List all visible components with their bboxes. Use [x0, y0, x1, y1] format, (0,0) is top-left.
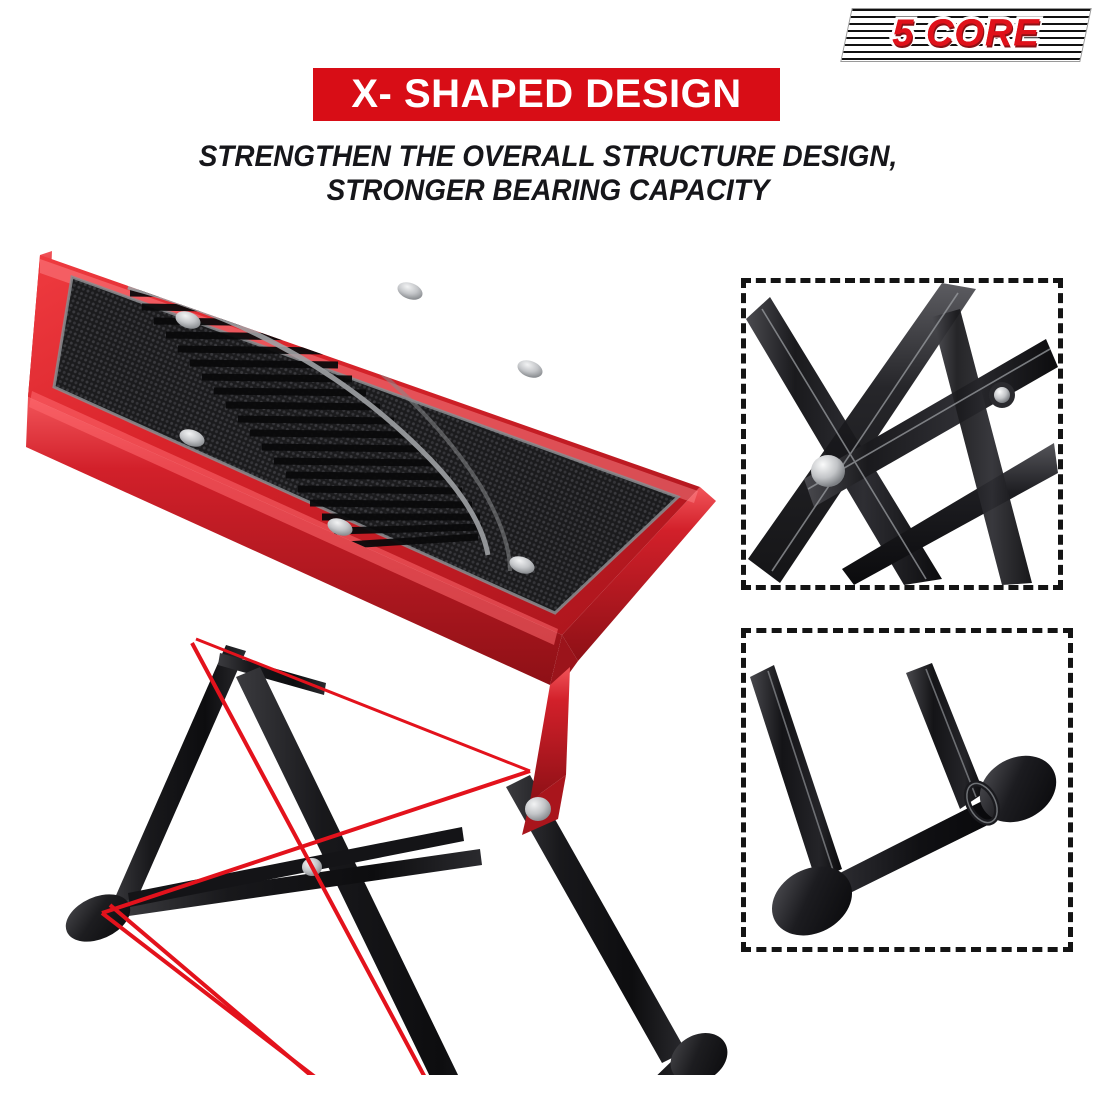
product-photo-foot-stool — [10, 215, 750, 1075]
brand-logo: 5 CORE 5 CORE — [846, 8, 1086, 62]
subtitle-line-1: STRENGTHEN THE OVERALL STRUCTURE DESIGN, — [38, 140, 1057, 174]
stool-leg-assembly — [58, 645, 736, 1075]
brand-logo-text: 5 CORE — [846, 13, 1086, 56]
headline-title: X- SHAPED DESIGN — [351, 72, 741, 117]
headline-subtitle: STRENGTHEN THE OVERALL STRUCTURE DESIGN,… — [0, 140, 1096, 208]
joint-bolt-right — [994, 387, 1010, 403]
subtitle-line-2: STRONGER BEARING CAPACITY — [38, 174, 1057, 208]
marketing-image-canvas: 5 CORE 5 CORE X- SHAPED DESIGN STRENGTHE… — [0, 0, 1096, 1096]
inset-foot-bar-closeup — [741, 628, 1073, 952]
hinge-bolt — [525, 797, 551, 821]
joint-bolt-left — [811, 455, 845, 487]
headline-banner: X- SHAPED DESIGN — [313, 68, 780, 121]
inset-x-joint-closeup — [741, 278, 1063, 590]
